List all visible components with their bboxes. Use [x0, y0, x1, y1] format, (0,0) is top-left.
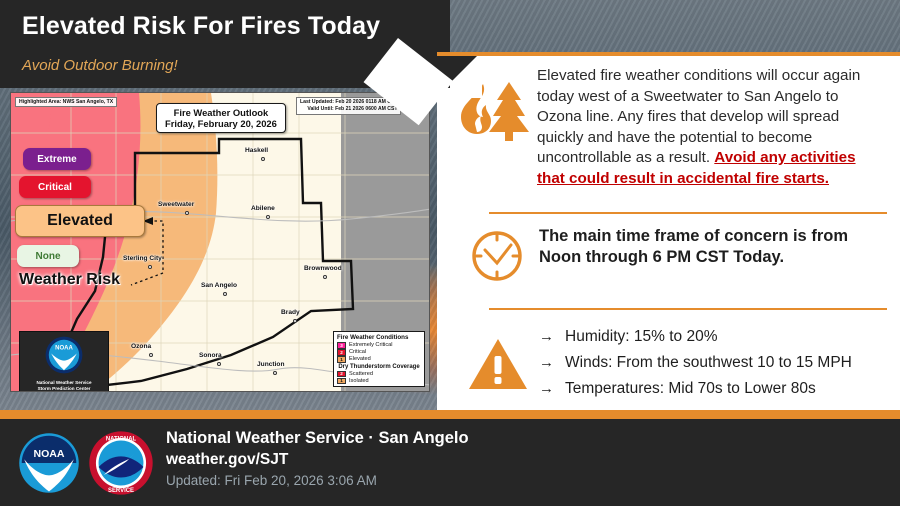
- fire-conditions-text: Elevated fire weather conditions will oc…: [537, 62, 887, 189]
- city-dot-sterling-city: [148, 265, 152, 269]
- svg-text:SERVICE: SERVICE: [108, 488, 134, 494]
- city-label-sterling-city: Sterling City: [123, 255, 162, 262]
- city-label-haskell: Haskell: [245, 147, 268, 154]
- fire-weather-outlook-map[interactable]: Highlighted Area: NWS San Angelo, TX Fir…: [10, 92, 430, 392]
- page-subtitle: Avoid Outdoor Burning!: [22, 57, 178, 74]
- map-last-updated: Last Updated: Feb 20 2026 0118 AM CST: [300, 99, 397, 106]
- footer-text-group: National Weather Service · San Angelo we…: [166, 429, 469, 488]
- map-title-line1: Fire Weather Outlook: [165, 107, 277, 118]
- spc-credit-box: NOAA National Weather Service Storm Pred…: [19, 331, 109, 392]
- spc-legend-subheading: Dry Thunderstorm Coverage: [337, 364, 421, 370]
- spc-label-elevated: Elevated: [349, 356, 371, 362]
- spc-swatch-extremely-critical: 3: [337, 342, 346, 349]
- svg-text:NOAA: NOAA: [33, 448, 64, 460]
- warning-triangle-icon: [467, 336, 539, 397]
- city-dot-abilene: [266, 215, 270, 219]
- footer-office-name: National Weather Service · San Angelo: [166, 429, 469, 448]
- arrow-icon: →: [539, 350, 565, 376]
- spc-label-extremely-critical: Extremely Critical: [349, 342, 393, 348]
- svg-text:NATIONAL: NATIONAL: [106, 437, 137, 443]
- spc-label-critical: Critical: [349, 349, 366, 355]
- city-dot-sweetwater: [185, 211, 189, 215]
- condition-item-temperatures: → Temperatures: Mid 70s to Lower 80s: [539, 376, 852, 402]
- fire-conditions-block: Elevated fire weather conditions will oc…: [459, 62, 887, 189]
- spc-label-isolated: Isolated: [349, 378, 369, 384]
- city-label-junction: Junction: [257, 361, 284, 368]
- city-label-brady: Brady: [281, 309, 300, 316]
- panel-accent-line: [437, 52, 900, 56]
- arrow-icon: →: [539, 324, 565, 350]
- city-label-ozona: Ozona: [131, 343, 151, 350]
- city-label-brownwood: Brownwood: [304, 265, 342, 272]
- map-title-box: Fire Weather Outlook Friday, February 20…: [156, 103, 286, 133]
- risk-pill-extreme[interactable]: Extreme: [23, 148, 91, 170]
- spc-conditions-legend: Fire Weather Conditions 3 Extremely Crit…: [333, 331, 425, 387]
- spc-swatch-isolated: 1: [337, 378, 346, 385]
- info-panel: Elevated fire weather conditions will oc…: [437, 52, 900, 410]
- noaa-logo-icon: NOAA: [44, 335, 84, 375]
- spc-legend-row: 1 Isolated: [337, 378, 421, 385]
- map-valid-until: Valid Until: Feb 21 2026 0600 AM CST: [300, 106, 397, 113]
- condition-text-winds: Winds: From the southwest 10 to 15 MPH: [565, 350, 852, 376]
- footer-accent-bar: [0, 410, 900, 419]
- timeframe-text: The main time frame of concern is from N…: [539, 224, 887, 268]
- noaa-logo-icon: NOAA: [18, 432, 80, 494]
- divider-top: [489, 212, 887, 214]
- spc-credit-line2: Storm Prediction Center: [22, 386, 106, 392]
- city-dot-junction: [273, 371, 277, 375]
- spc-legend-heading: Fire Weather Conditions: [337, 334, 421, 341]
- city-dot-sonora: [217, 362, 221, 366]
- risk-legend-caption: Weather Risk: [19, 271, 120, 289]
- map-title-line2: Friday, February 20, 2026: [165, 118, 277, 129]
- city-label-sonora: Sonora: [199, 352, 222, 359]
- risk-pill-elevated[interactable]: Elevated: [15, 205, 145, 237]
- condition-item-winds: → Winds: From the southwest 10 to 15 MPH: [539, 350, 852, 376]
- condition-text-temperatures: Temperatures: Mid 70s to Lower 80s: [565, 376, 816, 402]
- risk-pill-none[interactable]: None: [17, 245, 79, 267]
- nws-logo-icon: NATIONAL SERVICE: [88, 430, 154, 496]
- condition-item-humidity: → Humidity: 15% to 20%: [539, 324, 852, 350]
- city-dot-haskell: [261, 157, 265, 161]
- divider-bottom: [489, 308, 887, 310]
- clock-icon: [467, 226, 539, 291]
- city-label-abilene: Abilene: [251, 205, 275, 212]
- svg-text:NOAA: NOAA: [55, 345, 73, 351]
- footer-updated: Updated: Fri Feb 20, 2026 3:06 AM: [166, 473, 469, 488]
- city-dot-san-angelo: [223, 292, 227, 296]
- spc-legend-row: 2 Scattered: [337, 371, 421, 378]
- risk-pill-critical[interactable]: Critical: [19, 176, 91, 198]
- spc-legend-row: 3 Extremely Critical: [337, 342, 421, 349]
- arrow-icon: →: [539, 376, 565, 402]
- page-title: Elevated Risk For Fires Today: [22, 12, 380, 41]
- condition-text-humidity: Humidity: 15% to 20%: [565, 324, 718, 350]
- spc-swatch-elevated: 1: [337, 356, 346, 363]
- spc-legend-row: 2 Critical: [337, 349, 421, 356]
- conditions-block: → Humidity: 15% to 20% → Winds: From the…: [467, 322, 897, 402]
- spc-legend-row: 1 Elevated: [337, 356, 421, 363]
- spc-label-scattered: Scattered: [349, 371, 373, 377]
- city-label-san-angelo: San Angelo: [201, 282, 237, 289]
- city-dot-ozona: [149, 353, 153, 357]
- spc-swatch-scattered: 2: [337, 371, 346, 378]
- footer-website[interactable]: weather.gov/SJT: [166, 451, 469, 469]
- map-highlighted-area-label: Highlighted Area: NWS San Angelo, TX: [15, 97, 117, 107]
- city-dot-brady: [293, 319, 297, 323]
- city-dot-brownwood: [323, 275, 327, 279]
- timeframe-block: The main time frame of concern is from N…: [467, 224, 887, 291]
- conditions-list: → Humidity: 15% to 20% → Winds: From the…: [539, 322, 852, 402]
- spc-swatch-critical: 2: [337, 349, 346, 356]
- city-label-sweetwater: Sweetwater: [158, 201, 194, 208]
